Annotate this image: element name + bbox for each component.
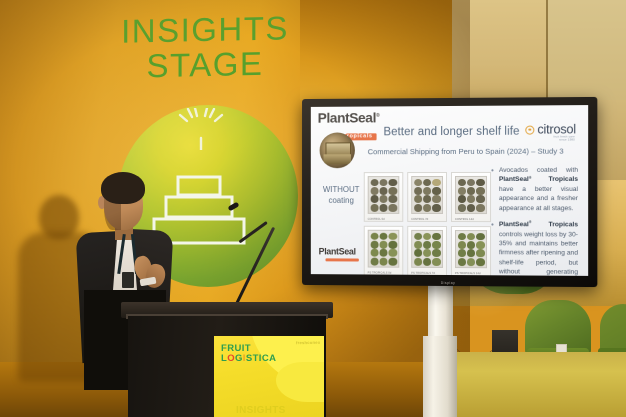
lectern-corner-label: freshconex (296, 340, 320, 345)
plantseal-logo-small: PlantSeal (319, 247, 359, 261)
table-row: CONTROL 7d (407, 172, 447, 222)
avocado-tray (368, 230, 400, 268)
avocado-tray (455, 176, 487, 214)
cell-label: PS TROPICALS 14d (455, 272, 481, 275)
bullet-text: PlantSeal® Tropicals controls weight los… (499, 220, 578, 276)
citrosol-logo-tagline: fruit fresh caresince 1980 (554, 135, 575, 142)
bullet-dot-icon: • (491, 220, 494, 276)
bullet-dot-icon: • (491, 166, 494, 213)
avocado-cluster (457, 178, 484, 211)
list-item: • PlantSeal® Tropicals controls weight l… (491, 220, 578, 276)
avocado-cluster (457, 233, 484, 266)
stage-wall-headline: INSIGHTS STAGE (110, 14, 300, 81)
slide-circular-photo (320, 132, 355, 168)
stage-floor-right (452, 352, 626, 417)
citrosol-mark-icon (525, 125, 534, 134)
light-rays-icon (168, 108, 234, 150)
speaker-badge (122, 272, 134, 288)
slide-title: Better and longer shelf life (383, 126, 519, 139)
tv-screen: PlantSeal® Tropicals Better and longer s… (311, 105, 588, 276)
avocado-cluster (370, 232, 397, 265)
plantseal-logo-small-word: PlantSeal (319, 247, 359, 256)
tv-stand-column (428, 284, 453, 340)
fruit-logistica-logo: FRUIT LOGISTICA (221, 344, 276, 363)
lectern-bottom-label: INSIGHTS (236, 405, 286, 416)
avocado-photo-grid: CONTROL 0d CONTROL 7d (364, 172, 491, 276)
wall-panel-b (548, 0, 626, 100)
headline-line-stage: STAGE (110, 47, 300, 82)
fruit-logistica-line2: LOGISTICA (221, 354, 276, 364)
presentation-display: Display PlantSeal® Tropicals Better and … (302, 97, 597, 287)
cell-label: CONTROL 14d (455, 218, 474, 221)
presentation-slide: PlantSeal® Tropicals Better and longer s… (311, 105, 588, 276)
tv-stand-base-column (423, 336, 457, 417)
slide-subtitle: Commercial Shipping from Peru to Spain (… (368, 147, 564, 157)
cell-label: CONTROL 7d (411, 217, 428, 220)
lectern-branding-panel: FRUIT LOGISTICA freshconex INSIGHTS (214, 336, 324, 417)
avocado-cluster (414, 232, 441, 265)
table-row: PS TROPICALS 7d (407, 226, 447, 276)
photo-crate-bottom (324, 154, 351, 164)
plantseal-logo-word: PlantSeal® (318, 110, 380, 124)
avocado-tray (411, 230, 443, 268)
plantseal-logo-small-badge (325, 258, 358, 262)
table-row: PS TROPICALS 14d (451, 226, 491, 276)
headline-line-insights: INSIGHTS (110, 12, 300, 47)
without-coating-line2: coating (329, 196, 354, 205)
avocado-tray (411, 176, 443, 214)
lectern-swoosh-shape-2 (276, 362, 324, 402)
table-row: CONTROL 14d (451, 172, 491, 222)
without-coating-line1: WITHOUT (323, 185, 360, 194)
without-coating-label: WITHOUT coating (317, 185, 366, 206)
avocado-cluster (414, 179, 441, 212)
avocado-cluster (370, 179, 397, 212)
speaker-hair (101, 172, 145, 204)
list-item: • Avocados coated with PlantSeal® Tropic… (491, 166, 578, 213)
cell-label: PS TROPICALS 7d (411, 271, 435, 274)
slide-bullet-list: • Avocados coated with PlantSeal® Tropic… (491, 166, 578, 276)
table-row: CONTROL 0d (364, 172, 404, 222)
conference-stage-photo: RTNER MESSEBERLIN INSIGHTS STAGE (0, 0, 626, 417)
table-row: PS TROPICALS 0d (364, 226, 404, 276)
tv-brand-label: Display (441, 281, 456, 285)
bullet-text: Avocados coated with PlantSeal® Tropical… (499, 166, 578, 213)
cell-label: CONTROL 0d (368, 217, 385, 220)
avocado-tray (368, 176, 400, 214)
cell-label: PS TROPICALS 0d (368, 271, 392, 274)
avocado-tray (455, 230, 487, 268)
